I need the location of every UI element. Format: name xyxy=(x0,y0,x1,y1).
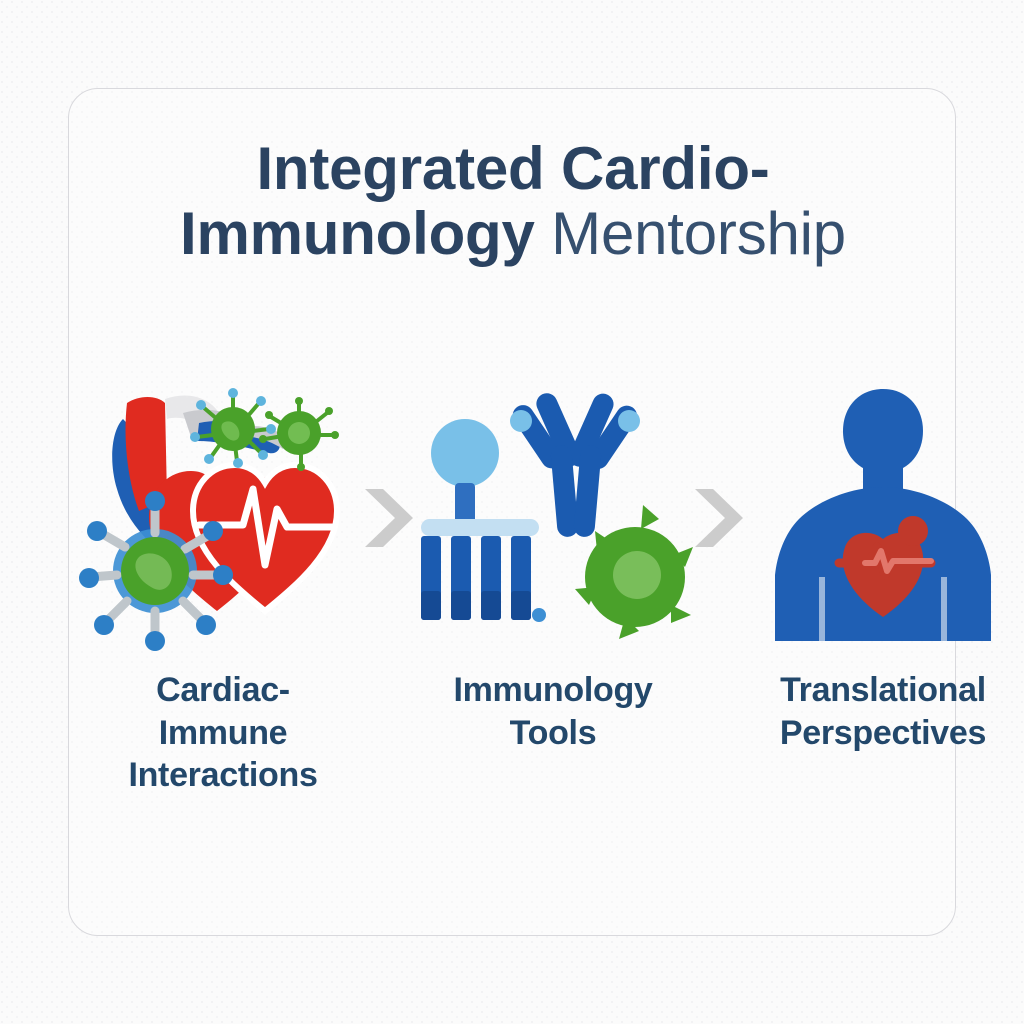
title-line-1: Integrated Cardio- xyxy=(95,137,931,202)
title-line-2-bold-text: Immunology xyxy=(180,200,535,267)
title-line-2: Immunology Mentorship xyxy=(95,202,931,267)
title-line-1-text: Integrated Cardio- xyxy=(256,135,769,202)
caption-line: Tools xyxy=(417,712,689,755)
flow-step-translational-perspectives[interactable]: Translational Perspectives xyxy=(747,379,1019,754)
caption-line: Translational xyxy=(747,669,1019,712)
cardiac-immune-icon xyxy=(87,379,359,657)
flow-arrow-1 xyxy=(359,379,417,657)
caption-line: Cardiac- xyxy=(87,669,359,712)
flow-arrow-2 xyxy=(689,379,747,657)
chevron-right-icon xyxy=(361,487,415,549)
flow-diagram: Cardiac- Immune Interactions xyxy=(69,379,957,859)
immunology-tools-icon xyxy=(417,379,689,657)
caption-line: Interactions xyxy=(87,754,359,797)
page-title: Integrated Cardio- Immunology Mentorship xyxy=(69,137,957,267)
flow-step-caption-2: Immunology Tools xyxy=(417,669,689,754)
title-line-2-light-text: Mentorship xyxy=(535,200,846,267)
caption-line: Perspectives xyxy=(747,712,1019,755)
chevron-right-icon xyxy=(691,487,745,549)
flow-step-immunology-tools[interactable]: Immunology Tools xyxy=(417,379,689,754)
flow-step-caption-3: Translational Perspectives xyxy=(747,669,1019,754)
caption-line: Immune xyxy=(87,712,359,755)
content-card: Integrated Cardio- Immunology Mentorship xyxy=(68,88,956,936)
caption-line: Immunology xyxy=(417,669,689,712)
translational-perspectives-icon xyxy=(747,379,1019,657)
assay-bars-shape xyxy=(421,419,546,622)
flow-step-cardiac-immune[interactable]: Cardiac- Immune Interactions xyxy=(87,379,359,797)
antibody-shape xyxy=(509,390,642,538)
flow-step-caption-1: Cardiac- Immune Interactions xyxy=(87,669,359,797)
